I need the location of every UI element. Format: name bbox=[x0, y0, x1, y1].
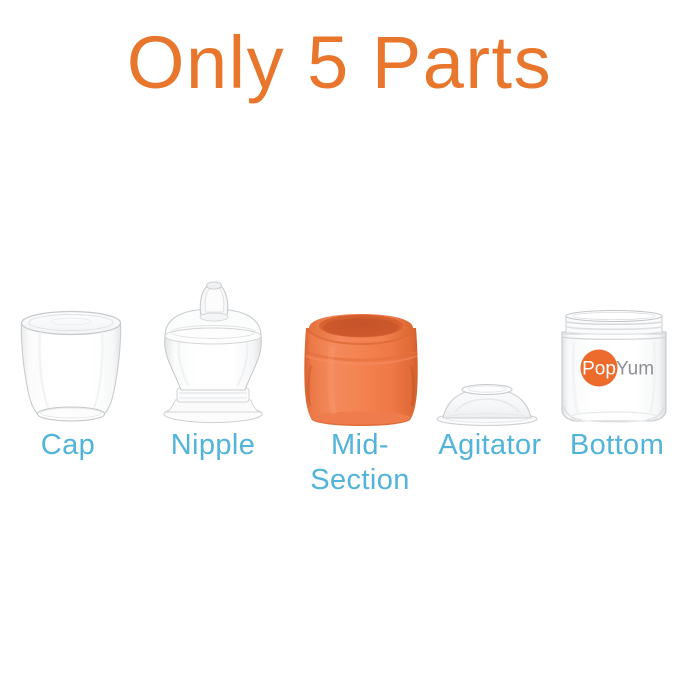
part-image-bottom: Pop Yum bbox=[556, 310, 672, 428]
part-label-nipple: Nipple bbox=[150, 428, 276, 463]
part-label-mid-section-line1: Mid- bbox=[300, 428, 420, 463]
parts-row: Pop Yum bbox=[0, 268, 679, 428]
part-label-bottom: Bottom bbox=[555, 428, 679, 463]
part-label-mid-section-line2: Section bbox=[300, 463, 420, 498]
logo-text-pop: Pop bbox=[582, 359, 616, 380]
part-image-cap bbox=[18, 308, 124, 428]
part-image-mid-section bbox=[302, 306, 420, 428]
labels-row: Cap Nipple Mid- Section Agitator Bottom bbox=[0, 428, 679, 538]
part-image-nipple bbox=[155, 276, 271, 428]
part-image-agitator bbox=[435, 378, 539, 428]
page-title: Only 5 Parts bbox=[0, 24, 679, 102]
part-label-cap: Cap bbox=[8, 428, 128, 463]
part-label-agitator: Agitator bbox=[430, 428, 550, 463]
part-label-mid-section: Mid- Section bbox=[300, 428, 420, 499]
logo-text-yum: Yum bbox=[616, 359, 654, 380]
product-infographic: Only 5 Parts bbox=[0, 0, 679, 679]
